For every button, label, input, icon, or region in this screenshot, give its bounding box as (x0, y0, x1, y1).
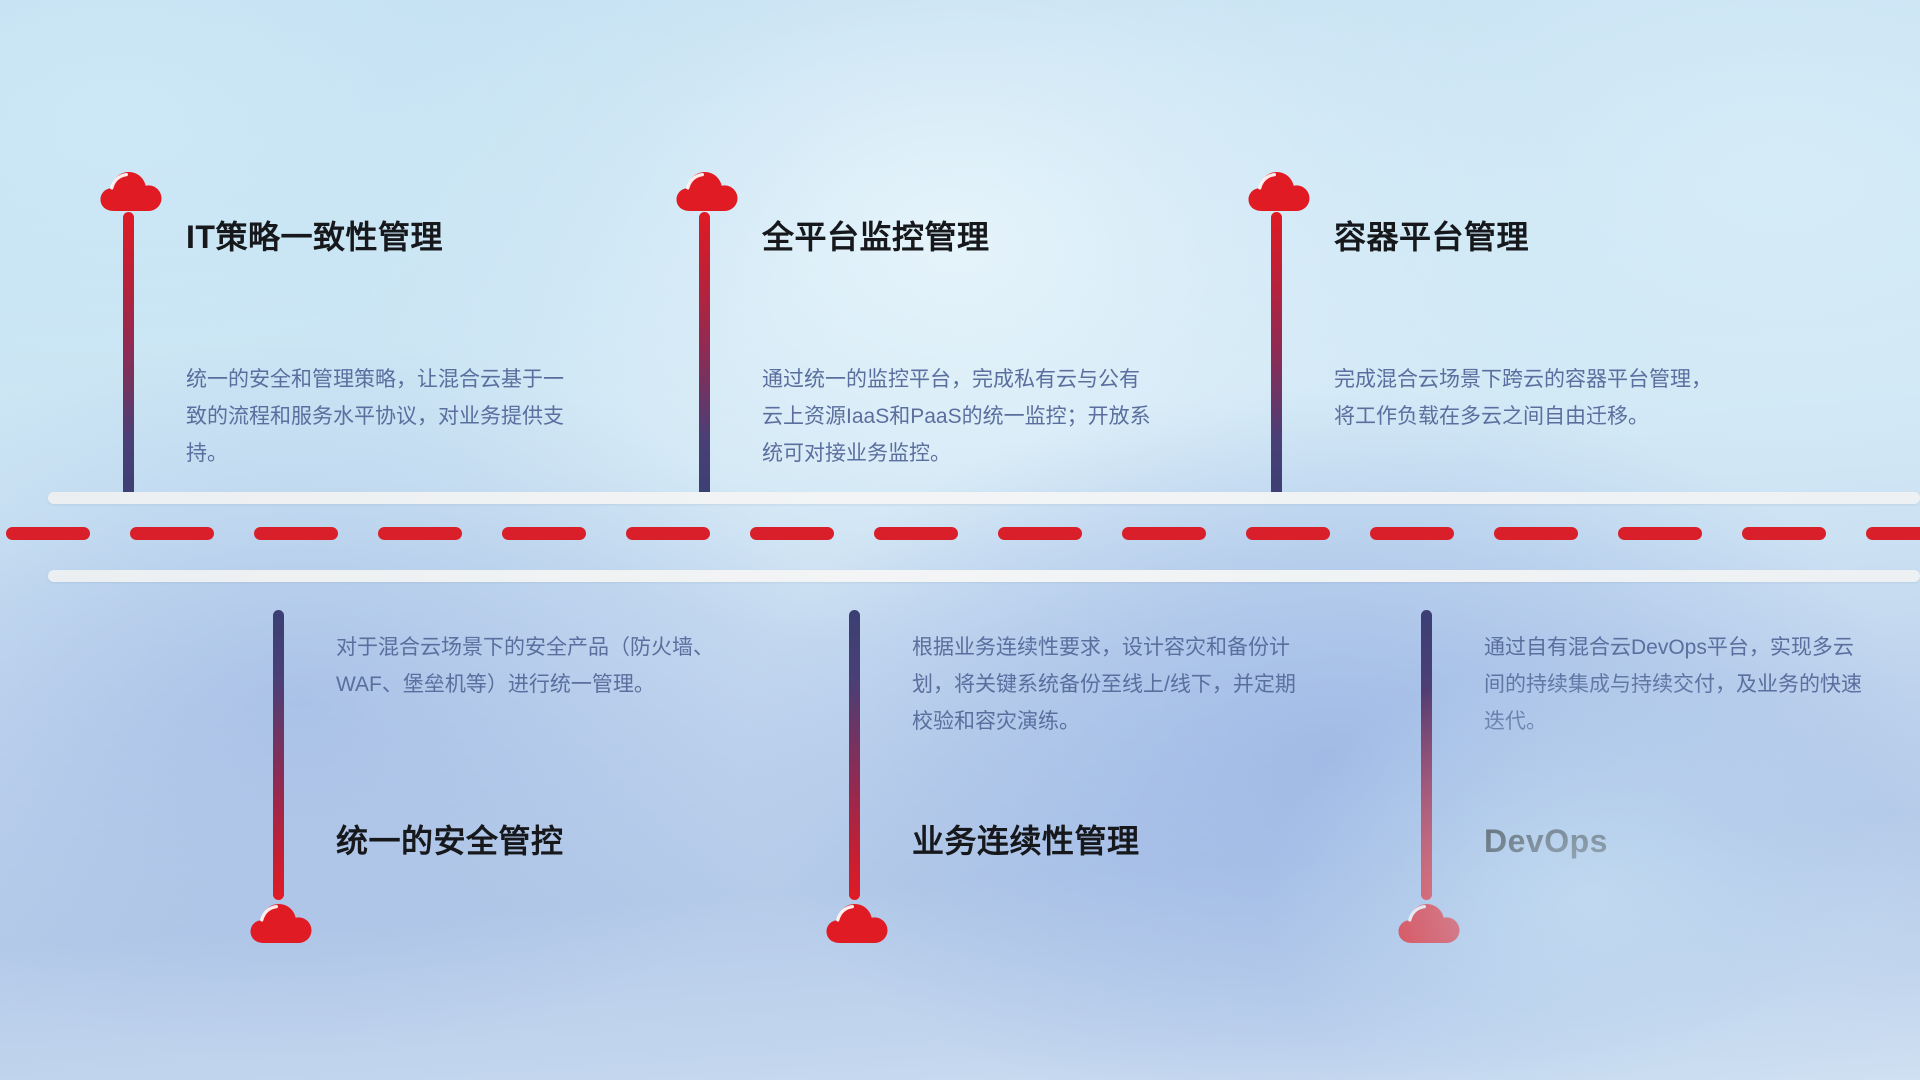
feature-description: 根据业务连续性要求，设计容灾和备份计划，将关键系统备份至线上/线下，并定期校验和… (912, 630, 1302, 740)
divider-dash (1122, 527, 1206, 540)
divider-bar-bottom (48, 570, 1920, 582)
feature-title: 业务连续性管理 (912, 822, 1140, 860)
cloud-icon (826, 900, 888, 944)
marker-bottom-2 (826, 610, 896, 944)
connector-line (273, 610, 284, 900)
cloud-icon (676, 168, 738, 212)
connector-line (1421, 610, 1432, 900)
feature-title: 全平台监控管理 (762, 218, 990, 256)
divider-dash (1370, 527, 1454, 540)
feature-description: 通过自有混合云DevOps平台，实现多云间的持续集成与持续交付，及业务的快速迭代… (1484, 630, 1874, 740)
divider-dash (1494, 527, 1578, 540)
section-divider (0, 478, 1920, 598)
divider-dash (1618, 527, 1702, 540)
divider-dash (1246, 527, 1330, 540)
divider-dash (750, 527, 834, 540)
feature-description: 对于混合云场景下的安全产品（防火墙、WAF、堡垒机等）进行统一管理。 (336, 630, 726, 704)
divider-dash (6, 527, 90, 540)
marker-bottom-3 (1398, 610, 1468, 944)
connector-line (123, 212, 134, 502)
cloud-icon (1398, 900, 1460, 944)
divider-dash (626, 527, 710, 540)
feature-title: DevOps (1484, 822, 1608, 860)
marker-top-1 (100, 168, 170, 502)
cloud-icon (250, 900, 312, 944)
cloud-icon (100, 168, 162, 212)
feature-description: 完成混合云场景下跨云的容器平台管理，将工作负载在多云之间自由迁移。 (1334, 362, 1724, 436)
infographic-canvas: IT策略一致性管理 统一的安全和管理策略，让混合云基于一致的流程和服务水平协议，… (0, 0, 1920, 1080)
cloud-icon (1248, 168, 1310, 212)
feature-title: 容器平台管理 (1334, 218, 1529, 256)
divider-dash (1742, 527, 1826, 540)
divider-dash (874, 527, 958, 540)
divider-dash (1866, 527, 1920, 540)
feature-description: 统一的安全和管理策略，让混合云基于一致的流程和服务水平协议，对业务提供支持。 (186, 362, 576, 472)
divider-dash (130, 527, 214, 540)
connector-line (699, 212, 710, 502)
divider-dash (378, 527, 462, 540)
feature-title: 统一的安全管控 (336, 822, 564, 860)
connector-line (849, 610, 860, 900)
dashed-rule-icon (0, 526, 1920, 540)
marker-top-2 (676, 168, 746, 502)
marker-bottom-1 (250, 610, 320, 944)
divider-dash (254, 527, 338, 540)
divider-dash (998, 527, 1082, 540)
divider-dash (502, 527, 586, 540)
divider-bar-top (48, 492, 1920, 504)
feature-description: 通过统一的监控平台，完成私有云与公有云上资源IaaS和PaaS的统一监控；开放系… (762, 362, 1152, 472)
connector-line (1271, 212, 1282, 502)
feature-title: IT策略一致性管理 (186, 218, 443, 256)
marker-top-3 (1248, 168, 1318, 502)
